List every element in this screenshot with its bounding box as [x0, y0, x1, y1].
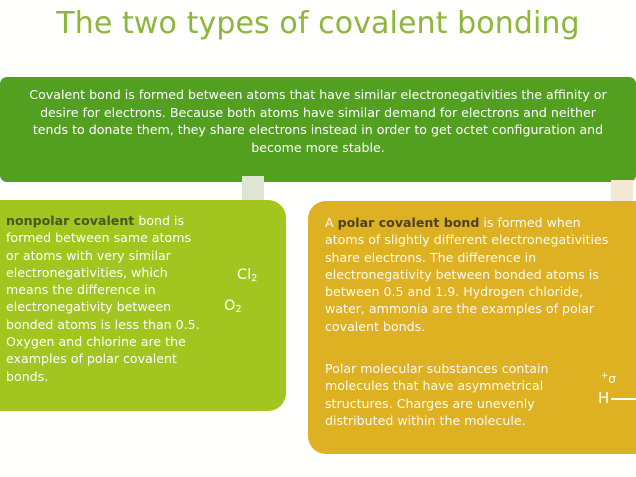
formula-cl2-subscript: 2: [251, 273, 257, 284]
polar-molecule-diagram: +σ H: [598, 369, 636, 406]
polar-covalent-panel: A polar covalent bond is formed when ato…: [308, 201, 636, 454]
slide-canvas: The two types of covalent bonding Covale…: [0, 0, 636, 477]
arrow-shaft: [611, 180, 633, 202]
nonpolar-covalent-panel: nonpolar covalent bond is formed between…: [0, 200, 286, 411]
formula-cl2-symbol: Cl: [237, 267, 251, 283]
nonpolar-panel-text: nonpolar covalent bond is formed between…: [6, 212, 202, 385]
nonpolar-panel-body: bond is formed between same atoms or ato…: [6, 213, 200, 384]
formula-o2: O2: [224, 298, 242, 314]
banner-text: Covalent bond is formed between atoms th…: [22, 86, 614, 156]
formula-o2-subscript: 2: [235, 304, 241, 315]
partial-charge-label: +σ: [601, 369, 636, 387]
hydrogen-label: H: [598, 389, 609, 407]
nonpolar-panel-lead-bold: nonpolar covalent: [6, 213, 134, 228]
polar-panel-lead-prefix: A: [325, 215, 338, 230]
page-title: The two types of covalent bonding: [0, 2, 636, 46]
formula-cl2: Cl2: [237, 267, 257, 283]
polar-panel-second-paragraph: Polar molecular substances contain molec…: [325, 360, 593, 429]
hydrogen-atom-row: H: [598, 391, 636, 406]
formula-o2-symbol: O: [224, 298, 235, 314]
polar-panel-lead-bold: polar covalent bond: [338, 215, 480, 230]
arrow-shaft: [242, 176, 264, 202]
bond-line-icon: [611, 398, 636, 400]
polar-panel-text: A polar covalent bond is formed when ato…: [325, 214, 619, 335]
covalent-bond-definition-banner: Covalent bond is formed between atoms th…: [0, 77, 636, 182]
sigma-symbol: σ: [608, 372, 616, 386]
polar-panel-body: is formed when atoms of slightly differe…: [325, 215, 608, 334]
